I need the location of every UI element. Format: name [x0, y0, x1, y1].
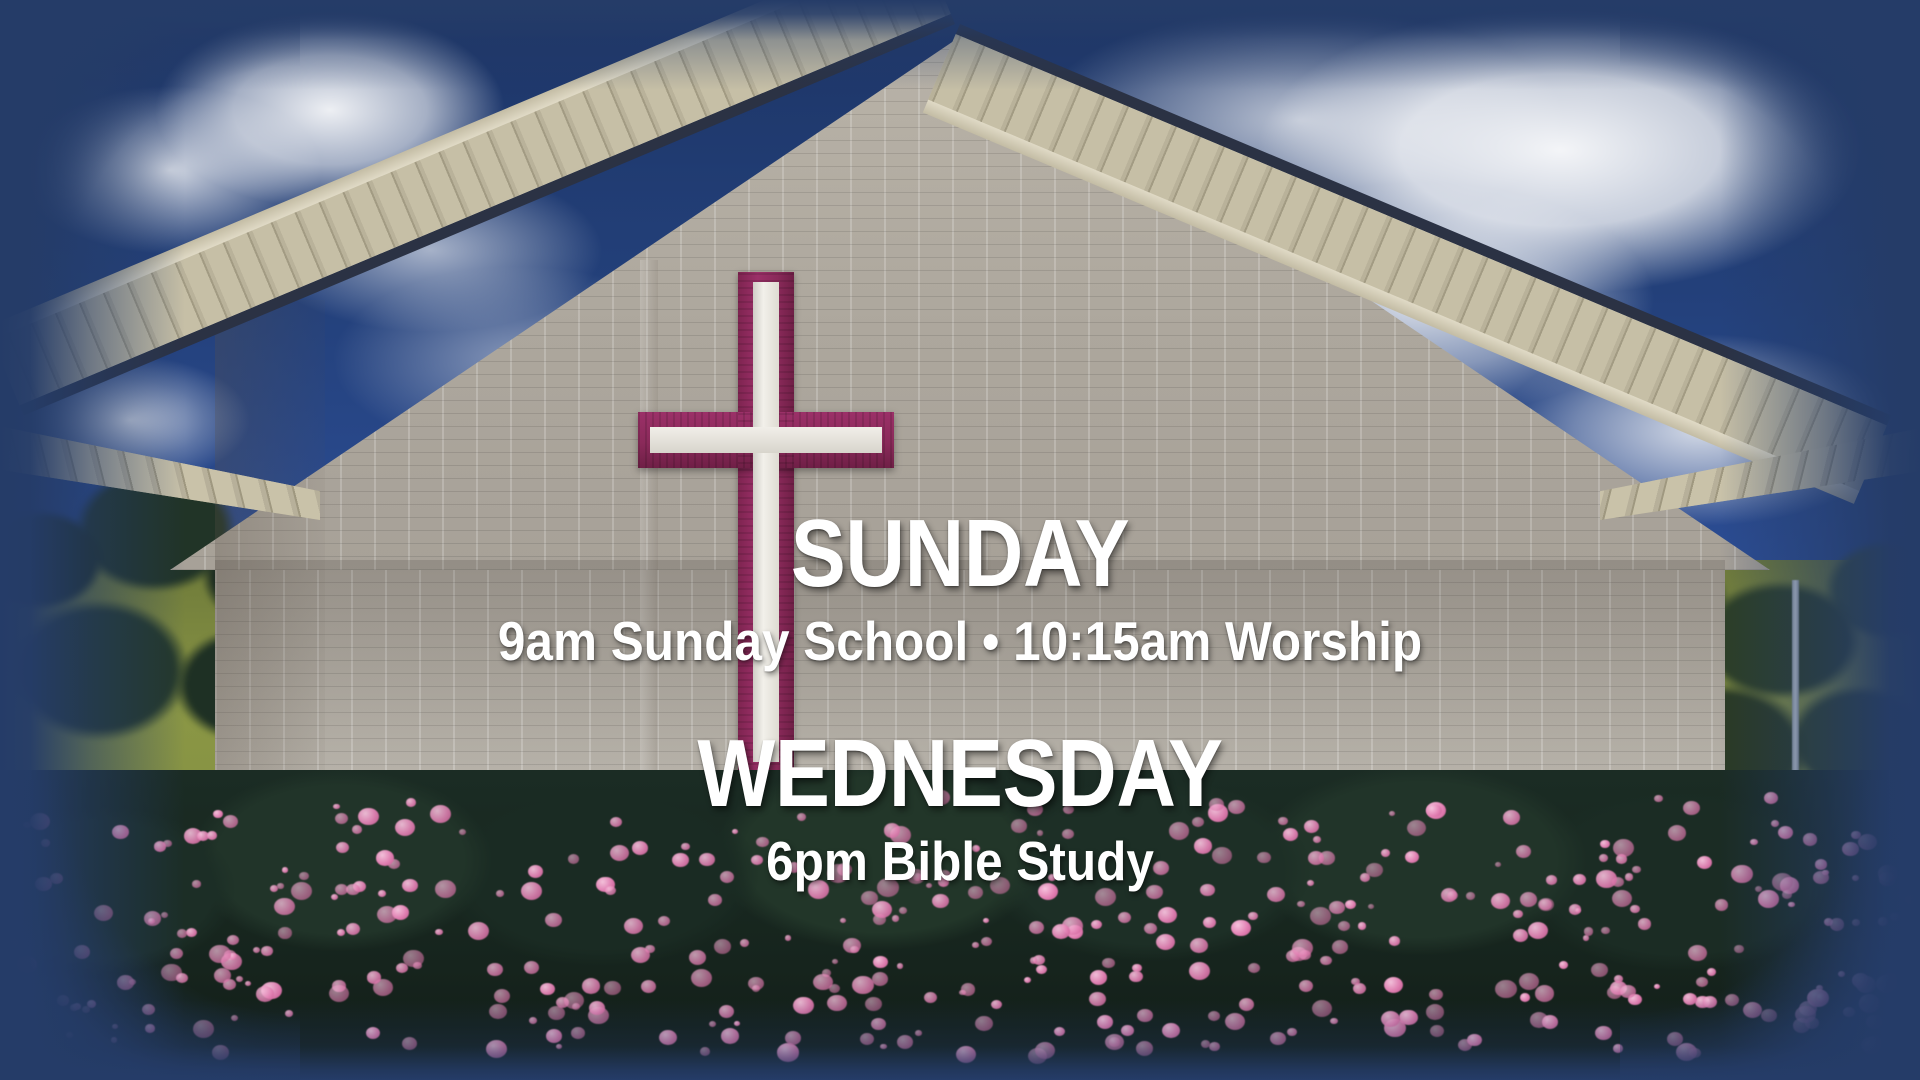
sunday-service-block: SUNDAY 9am Sunday School • 10:15am Worsh… — [0, 510, 1920, 669]
service-times-graphic: SUNDAY 9am Sunday School • 10:15am Worsh… — [0, 0, 1920, 1080]
service-times-text-overlay: SUNDAY 9am Sunday School • 10:15am Worsh… — [0, 0, 1920, 1080]
sunday-times: 9am Sunday School • 10:15am Worship — [96, 614, 1824, 669]
sunday-heading: SUNDAY — [134, 510, 1785, 598]
wednesday-service-block: WEDNESDAY 6pm Bible Study — [0, 730, 1920, 889]
wednesday-heading: WEDNESDAY — [134, 730, 1785, 818]
wednesday-times: 6pm Bible Study — [96, 834, 1824, 889]
